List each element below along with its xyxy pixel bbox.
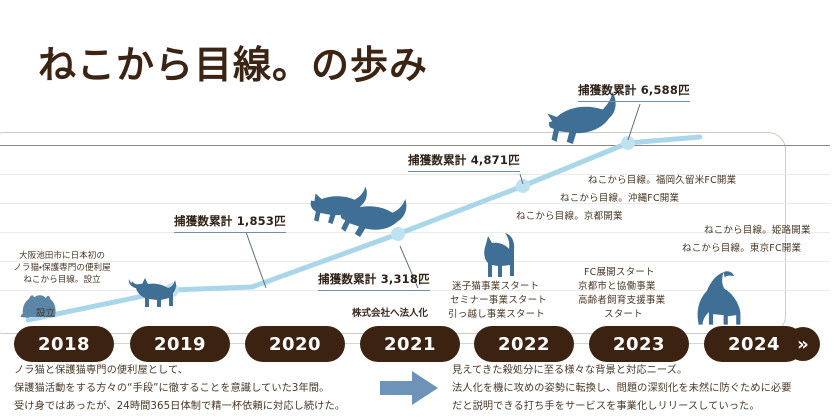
opening-okinawa: ねこから目線。沖縄FC開業: [560, 190, 679, 204]
page-title: ねこから目線。の歩み: [38, 46, 428, 84]
year-pill-2019[interactable]: 2019: [130, 326, 230, 362]
milestone-2022-3: 引っ越し事業スタート: [448, 306, 545, 320]
kpi-capture-total-2019: 捕獲数累計 1,853匹: [174, 213, 286, 233]
milestone-2023-1: FC展開スタート: [584, 264, 655, 278]
guide-rule: [0, 145, 830, 146]
opening-fukuoka-kurume: ねこから目線。福岡久留米FC開業: [588, 172, 736, 186]
milestone-2022-2: セミナー事業スタート: [450, 292, 547, 306]
double-chevron-right-icon[interactable]: »: [786, 327, 820, 361]
milestone-2023-3: 高齢者飼育支援事業: [578, 292, 665, 306]
opening-tokyo-fc: ねこから目線。東京FC開業: [682, 240, 801, 254]
year-pill-2018[interactable]: 2018: [14, 326, 114, 362]
narrative-left: ノラ猫と保護猫専門の便利屋として、 保護猫活動をする方々の“手段”に徹することを…: [14, 362, 364, 416]
opening-kyoto: ねこから目線。京都開業: [516, 208, 623, 222]
arrow-right-icon: [378, 368, 440, 408]
opening-himeji: ねこから目線。姫路開業: [704, 222, 811, 236]
kpi-capture-total-2024: 捕獲数累計 6,588匹: [578, 82, 690, 102]
year-pill-2023[interactable]: 2023: [589, 326, 689, 362]
guide-rule: [0, 203, 830, 204]
kpi-capture-total-2021: 捕獲数累計 3,318匹: [318, 271, 430, 291]
founded-label: 設立: [36, 305, 55, 319]
milestone-2022-1: 迷子猫事業スタート: [452, 278, 539, 292]
milestone-2023-4: スタート: [604, 306, 643, 320]
year-pill-2020[interactable]: 2020: [245, 326, 345, 362]
guide-rule: [0, 261, 830, 262]
year-pill-2021[interactable]: 2021: [360, 326, 460, 362]
incorporation-label: 株式会社へ法人化: [352, 305, 428, 319]
year-axis: 2018 2019 2020 2021 2022 2023 2024 »: [0, 326, 840, 362]
milestone-2023-2: 京都市と協働事業: [578, 278, 656, 292]
year-pill-2022[interactable]: 2022: [474, 326, 574, 362]
founding-description: 大阪池田市に日本初の ノラ猫・保護専門の便利屋 ねこから目線。設立: [6, 250, 118, 287]
narrative-right: 見えてきた殺処分に至る様々な背景と対応ニーズ。 法人化を機に攻めの姿勢に転換し、…: [452, 362, 832, 416]
kpi-capture-total-2022: 捕獲数累計 4,871匹: [408, 152, 520, 172]
infographic-root: ねこから目線。の歩み: [0, 0, 840, 420]
